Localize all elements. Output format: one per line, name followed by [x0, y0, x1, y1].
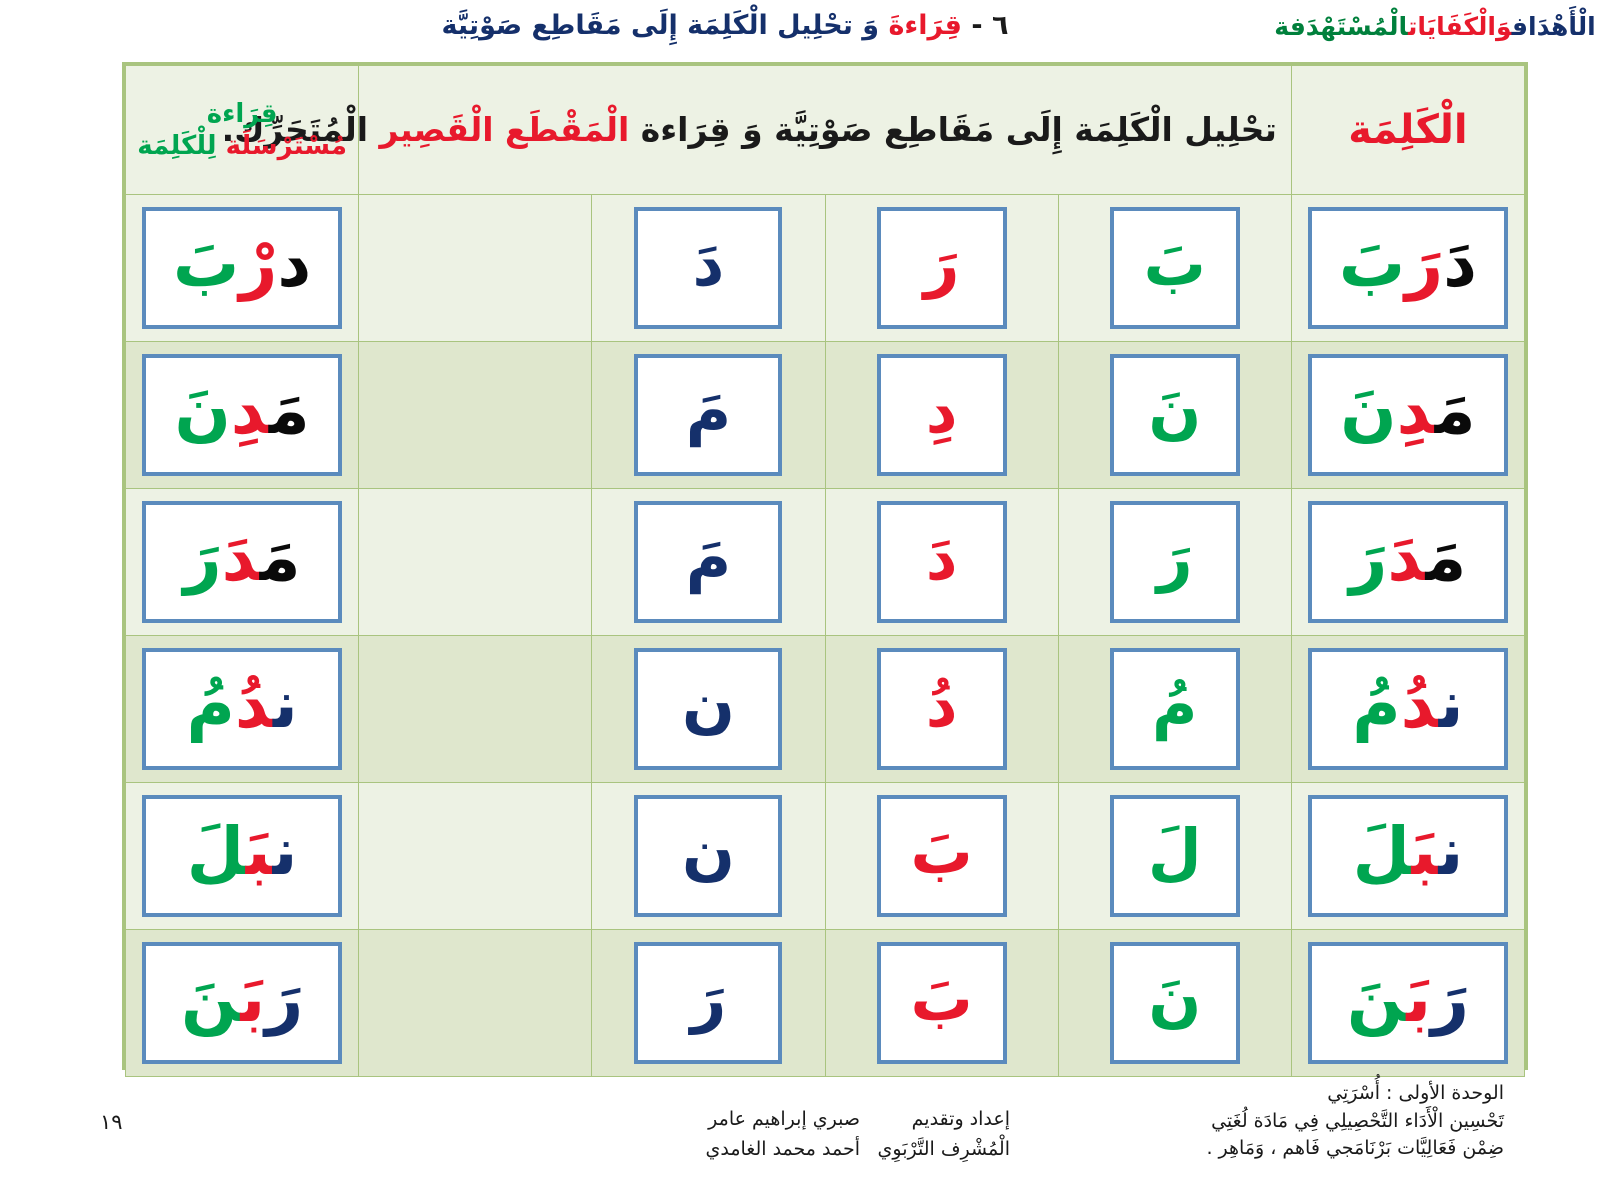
column-header-analysis-part2: الْمَقْطَع الْقَصِير [380, 110, 630, 149]
syllable-card: دِ [877, 354, 1007, 476]
fluent-glyph: درْبَ [173, 231, 311, 297]
word-cell[interactable]: مَدَرَ [1291, 489, 1524, 636]
fluent-cell[interactable]: نبَلَ [126, 783, 359, 930]
syllable-card: دَ [877, 501, 1007, 623]
syllable-card: بَ [877, 942, 1007, 1064]
syllable-glyph: رَ [924, 233, 960, 295]
syllable-card: نَ [1110, 354, 1240, 476]
syllable-cell-3[interactable]: رَ [592, 930, 825, 1077]
syllable-card: ن [634, 648, 782, 770]
unit-line-1: الوحدة الأولى : أُسْرَتِي [1206, 1080, 1504, 1108]
fluent-card: مَدَرَ [142, 501, 342, 623]
unit-line-2: تَحْسِين الْأَدَاء التَّحْصِيلِي فِي مَا… [1206, 1108, 1504, 1136]
fluent-glyph: ندُمُ [186, 672, 297, 738]
syllable-glyph: بَ [1144, 233, 1206, 295]
column-header-fluent-part2: مُسْتَرْسَلَة [226, 131, 347, 161]
word-glyph: رَبَنَ [1347, 966, 1469, 1032]
syllable-glyph: بَ [910, 968, 972, 1030]
syllable-glyph: مَ [686, 527, 731, 589]
word-card: نبَلَ [1308, 795, 1508, 917]
syllable-glyph: رَ [691, 968, 727, 1030]
syllable-glyph: ن [682, 821, 735, 883]
syllable-card: نَ [1110, 942, 1240, 1064]
syllable-card: رَ [634, 942, 782, 1064]
credit-label-supervisor: الْمُشْرِف التَّرْبَوِي [860, 1134, 1010, 1164]
syllable-card: ن [634, 795, 782, 917]
syllable-cell-2[interactable]: رَ [825, 195, 1058, 342]
word-glyph: نبَلَ [1353, 819, 1464, 885]
fluent-card: درْبَ [142, 207, 342, 329]
syllable-card: رَ [1110, 501, 1240, 623]
fluent-glyph: مَدِنَ [174, 378, 309, 444]
fluent-glyph: مَدَرَ [184, 525, 301, 591]
objectives-part-competencies: وَالْكَفَايَات [1408, 12, 1512, 41]
blank-cell[interactable] [359, 783, 592, 930]
fluent-card: ندُمُ [142, 648, 342, 770]
syllable-glyph: لَ [1148, 821, 1202, 883]
lesson-number: ٦ - [971, 10, 1008, 41]
objectives-label: الْأَهْدَافوَالْكَفَايَاتالْمُسْتَهْدَفة [1270, 10, 1600, 39]
fluent-cell[interactable]: درْبَ [126, 195, 359, 342]
syllable-card: بَ [1110, 207, 1240, 329]
fluent-cell[interactable]: رَبَنَ [126, 930, 359, 1077]
objectives-part-aims: الْأَهْدَاف [1512, 12, 1596, 41]
credit-value-supervisor: أحمد محمد الغامدي [705, 1134, 860, 1164]
syllable-card: رَ [877, 207, 1007, 329]
table-row: نبَلَ لَ بَ ن نبَلَ [126, 783, 1525, 930]
syllable-cell-2[interactable]: دُ [825, 636, 1058, 783]
syllable-glyph: بَ [910, 821, 972, 883]
syllable-cell-3[interactable]: مَ [592, 489, 825, 636]
word-card: رَبَنَ [1308, 942, 1508, 1064]
syllable-glyph: رَ [1157, 527, 1193, 589]
table-row: مَدَرَ رَ دَ مَ مَدَرَ [126, 489, 1525, 636]
syllable-cell-3[interactable]: ن [592, 783, 825, 930]
column-header-word: الْكَلِمَة [1292, 108, 1524, 152]
blank-cell[interactable] [359, 489, 592, 636]
credit-row-2: الْمُشْرِف التَّرْبَوِيأحمد محمد الغامدي [705, 1134, 1010, 1164]
credit-value-preparation: صبري إبراهيم عامر [708, 1104, 860, 1134]
syllable-card: بَ [877, 795, 1007, 917]
fluent-cell[interactable]: ندُمُ [126, 636, 359, 783]
syllable-glyph: نَ [1148, 968, 1201, 1030]
syllable-analysis-table: الْكَلِمَة تحْلِيل الْكَلِمَة إِلَى مَقَ… [125, 65, 1525, 1077]
column-header-analysis-part1: تحْلِيل الْكَلِمَة إِلَى مَقَاطِع صَوْتِ… [641, 110, 1277, 149]
word-cell[interactable]: مَدِنَ [1291, 342, 1524, 489]
word-glyph: مَدَرَ [1349, 525, 1466, 591]
table-row: دَرَبَ بَ رَ دَ درْبَ [126, 195, 1525, 342]
syllable-cell-1[interactable]: مُ [1058, 636, 1291, 783]
word-glyph: ندُمُ [1352, 672, 1463, 738]
syllable-cell-1[interactable]: نَ [1058, 930, 1291, 1077]
fluent-card: مَدِنَ [142, 354, 342, 476]
syllable-cell-2[interactable]: دَ [825, 489, 1058, 636]
syllable-glyph: نَ [1148, 380, 1201, 442]
table-header-row: الْكَلِمَة تحْلِيل الْكَلِمَة إِلَى مَقَ… [126, 66, 1525, 195]
syllable-cell-2[interactable]: بَ [825, 930, 1058, 1077]
blank-cell[interactable] [359, 195, 592, 342]
fluent-cell[interactable]: مَدَرَ [126, 489, 359, 636]
word-card: مَدِنَ [1308, 354, 1508, 476]
fluent-card: رَبَنَ [142, 942, 342, 1064]
syllable-cell-1[interactable]: رَ [1058, 489, 1291, 636]
syllable-cell-3[interactable]: دَ [592, 195, 825, 342]
syllable-cell-3[interactable]: ن [592, 636, 825, 783]
syllable-card: مُ [1110, 648, 1240, 770]
syllable-glyph: دِ [926, 380, 958, 442]
syllable-cell-1[interactable]: نَ [1058, 342, 1291, 489]
lesson-title-reading: قِرَاءةَ [888, 10, 961, 41]
column-header-analysis: تحْلِيل الْكَلِمَة إِلَى مَقَاطِع صَوْتِ… [359, 109, 1291, 150]
syllable-card: دَ [634, 207, 782, 329]
lesson-title: ٦ - قِرَاءةَ وَ تحْلِيل الْكَلِمَة إِلَى… [0, 9, 1270, 39]
word-cell[interactable]: دَرَبَ [1291, 195, 1524, 342]
table-row: ندُمُ مُ دُ ن ندُمُ [126, 636, 1525, 783]
syllable-glyph: مَ [686, 380, 731, 442]
syllable-glyph: دُ [926, 674, 958, 736]
blank-cell[interactable] [359, 342, 592, 489]
syllable-cell-3[interactable]: مَ [592, 342, 825, 489]
syllable-card: دُ [877, 648, 1007, 770]
page-number: ١٩ [100, 1110, 123, 1134]
lesson-title-analysis: وَ تحْلِيل الْكَلِمَة إِلَى مَقَاطِع صَو… [442, 10, 880, 41]
syllable-glyph: ن [682, 674, 735, 736]
syllable-cell-2[interactable]: دِ [825, 342, 1058, 489]
worksheet-table-container: الْكَلِمَة تحْلِيل الْكَلِمَة إِلَى مَقَ… [122, 62, 1528, 1070]
blank-cell[interactable] [359, 636, 592, 783]
syllable-glyph: مُ [1152, 674, 1197, 736]
word-card: مَدَرَ [1308, 501, 1508, 623]
header-cell-word: الْكَلِمَة [1291, 66, 1524, 195]
syllable-cell-1[interactable]: بَ [1058, 195, 1291, 342]
unit-info: الوحدة الأولى : أُسْرَتِي تَحْسِين الْأَ… [1206, 1080, 1504, 1163]
column-header-fluent-part1: قِرَاءة [207, 99, 278, 129]
word-cell[interactable]: نبَلَ [1291, 783, 1524, 930]
fluent-cell[interactable]: مَدِنَ [126, 342, 359, 489]
syllable-glyph: دَ [693, 233, 725, 295]
fluent-card: نبَلَ [142, 795, 342, 917]
word-glyph: دَرَبَ [1339, 231, 1477, 297]
page-header: الْأَهْدَافوَالْكَفَايَاتالْمُسْتَهْدَفة… [0, 0, 1600, 48]
credit-label-preparation: إعداد وتقديم [860, 1104, 1010, 1134]
credits: إعداد وتقديمصبري إبراهيم عامر الْمُشْرِف… [705, 1104, 1010, 1165]
credit-row-1: إعداد وتقديمصبري إبراهيم عامر [705, 1104, 1010, 1134]
syllable-cell-1[interactable]: لَ [1058, 783, 1291, 930]
syllable-card: مَ [634, 354, 782, 476]
header-cell-analysis: تحْلِيل الْكَلِمَة إِلَى مَقَاطِع صَوْتِ… [359, 66, 1292, 195]
word-cell[interactable]: رَبَنَ [1291, 930, 1524, 1077]
fluent-glyph: نبَلَ [187, 819, 298, 885]
page-footer: الوحدة الأولى : أُسْرَتِي تَحْسِين الْأَ… [0, 1076, 1600, 1200]
table-row: رَبَنَ نَ بَ رَ رَبَنَ [126, 930, 1525, 1077]
word-card: ندُمُ [1308, 648, 1508, 770]
syllable-glyph: دَ [926, 527, 958, 589]
fluent-glyph: رَبَنَ [181, 966, 303, 1032]
column-header-fluent: قِرَاءة مُسْتَرْسَلَة لِلْكَلِمَة [126, 98, 358, 163]
word-cell[interactable]: ندُمُ [1291, 636, 1524, 783]
column-header-fluent-part3: لِلْكَلِمَة [137, 131, 216, 161]
syllable-card: مَ [634, 501, 782, 623]
syllable-cell-2[interactable]: بَ [825, 783, 1058, 930]
word-card: دَرَبَ [1308, 207, 1508, 329]
objectives-part-targeted: الْمُسْتَهْدَفة [1274, 12, 1408, 41]
syllable-card: لَ [1110, 795, 1240, 917]
header-cell-fluent: قِرَاءة مُسْتَرْسَلَة لِلْكَلِمَة [126, 66, 359, 195]
table-row: مَدِنَ نَ دِ مَ مَدِنَ [126, 342, 1525, 489]
word-glyph: مَدِنَ [1340, 378, 1475, 444]
unit-line-3: ضِمْن فَعَالِيَّات بَرْنَامَجي فَاهم ، و… [1206, 1135, 1504, 1163]
blank-cell[interactable] [359, 930, 592, 1077]
